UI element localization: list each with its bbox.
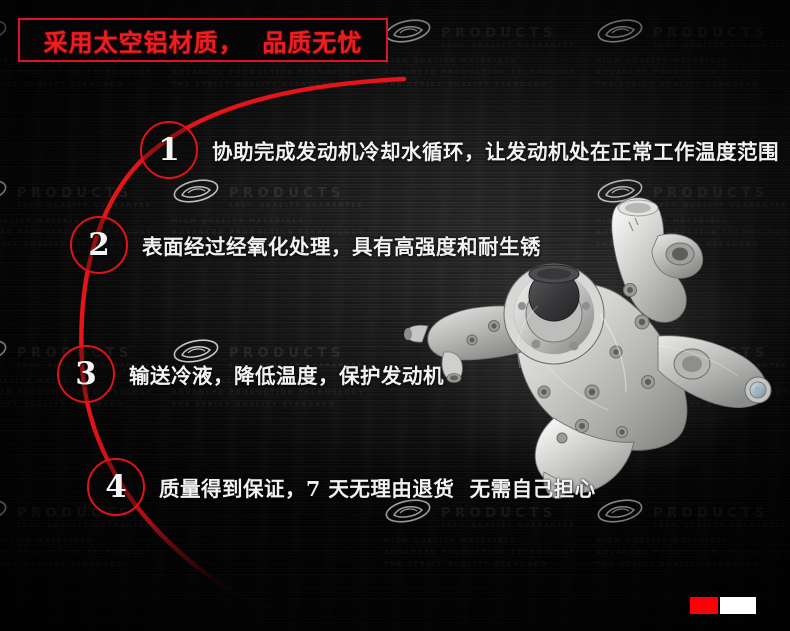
feature-number-1: 1 — [158, 135, 180, 166]
feature-text-3: 输送冷液，降低温度，保护发动机 — [129, 359, 444, 389]
feature-badge-3: 3 — [57, 345, 115, 403]
feature-text-1: 协助完成发动机冷却水循环，让发动机处在正常工作温度范围 — [212, 135, 779, 165]
feature-text-4: 质量得到保证，7 天无理由退货 无需自己担心 — [159, 472, 596, 502]
headline-banner: 采用太空铝材质， 品质无忧 — [18, 18, 388, 62]
feature-item-2: 2 表面经过经氧化处理，具有高强度和耐生锈 — [70, 216, 541, 274]
feature-number-4: 4 — [105, 472, 127, 503]
promo-banner-page: PRODUCTS 100% QUALITY GUARANTEE HIGH QUA… — [0, 0, 790, 631]
feature-badge-1: 1 — [140, 121, 198, 179]
feature-text-2: 表面经过经氧化处理，具有高强度和耐生锈 — [142, 230, 541, 260]
color-chips — [690, 597, 756, 614]
headline-text: 采用太空铝材质， 品质无忧 — [44, 23, 363, 58]
feature-item-4: 4 质量得到保证，7 天无理由退货 无需自己担心 — [87, 458, 596, 516]
feature-item-1: 1 协助完成发动机冷却水循环，让发动机处在正常工作温度范围 — [140, 121, 779, 179]
feature-item-3: 3 输送冷液，降低温度，保护发动机 — [57, 345, 444, 403]
feature-number-2: 2 — [88, 230, 110, 261]
white-chip — [720, 597, 756, 614]
feature-badge-4: 4 — [87, 458, 145, 516]
red-chip — [690, 597, 718, 614]
feature-badge-2: 2 — [70, 216, 128, 274]
feature-number-3: 3 — [75, 359, 97, 390]
background-vignette — [0, 0, 790, 631]
